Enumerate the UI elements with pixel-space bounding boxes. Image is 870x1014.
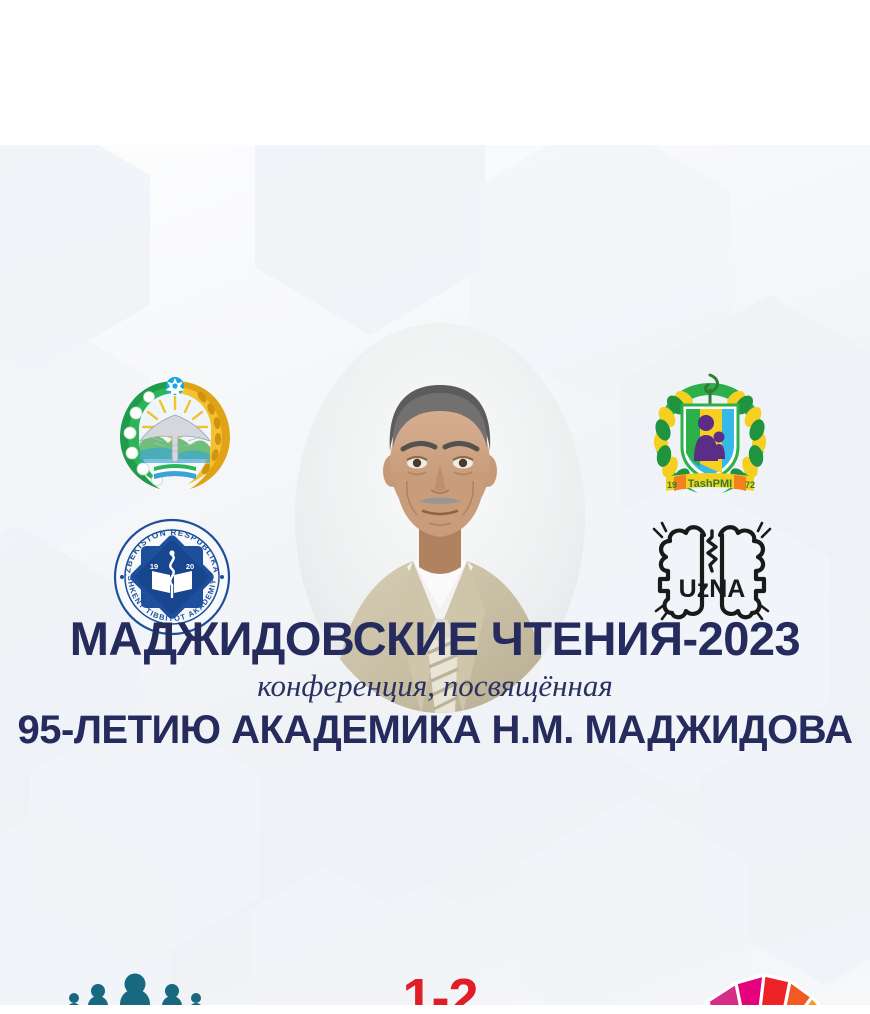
event-date: 1-2 декабря xyxy=(290,971,590,1005)
seal-year-left: 19 xyxy=(150,562,158,571)
tashpmi-ribbon-center: TashPMI xyxy=(688,478,732,490)
title-block: МАДЖИДОВСКИЕ ЧТЕНИЯ-2023 конференция, по… xyxy=(0,615,870,750)
congress24-logo: CONGRESS24.NET ENJOY EVERY MOMENT xyxy=(20,972,250,1005)
people-group-icon xyxy=(20,972,250,1005)
tashpmi-logo-icon: TashPMI 19 72 xyxy=(640,365,780,505)
uzbekistan-state-emblem-icon xyxy=(110,367,240,497)
tashpmi-ribbon-right: 72 xyxy=(745,480,755,490)
title-second-line: 95-ЛЕТИЮ АКАДЕМИКА Н.М. МАДЖИДОВА xyxy=(0,710,870,750)
seal-year-right: 20 xyxy=(186,562,194,571)
tashpmi-ribbon-left: 19 xyxy=(667,480,677,490)
date-and-venue-block: 1-2 декабря INTERNATIONAL HOTEL TASHKE xyxy=(290,971,590,1005)
uzna-logo-icon: UzNA xyxy=(648,513,776,625)
page-title: МАДЖИДОВСКИЕ ЧТЕНИЯ-2023 xyxy=(0,615,870,662)
colorful-brain-logo-icon xyxy=(672,957,840,1005)
conference-poster: O'ZBEKISTON RESPUBLIKASI TOSHKENT TIBBIY… xyxy=(0,145,870,1005)
title-subtitle: конференция, посвящённая xyxy=(0,670,870,701)
uzna-label: UzNA xyxy=(679,575,746,603)
